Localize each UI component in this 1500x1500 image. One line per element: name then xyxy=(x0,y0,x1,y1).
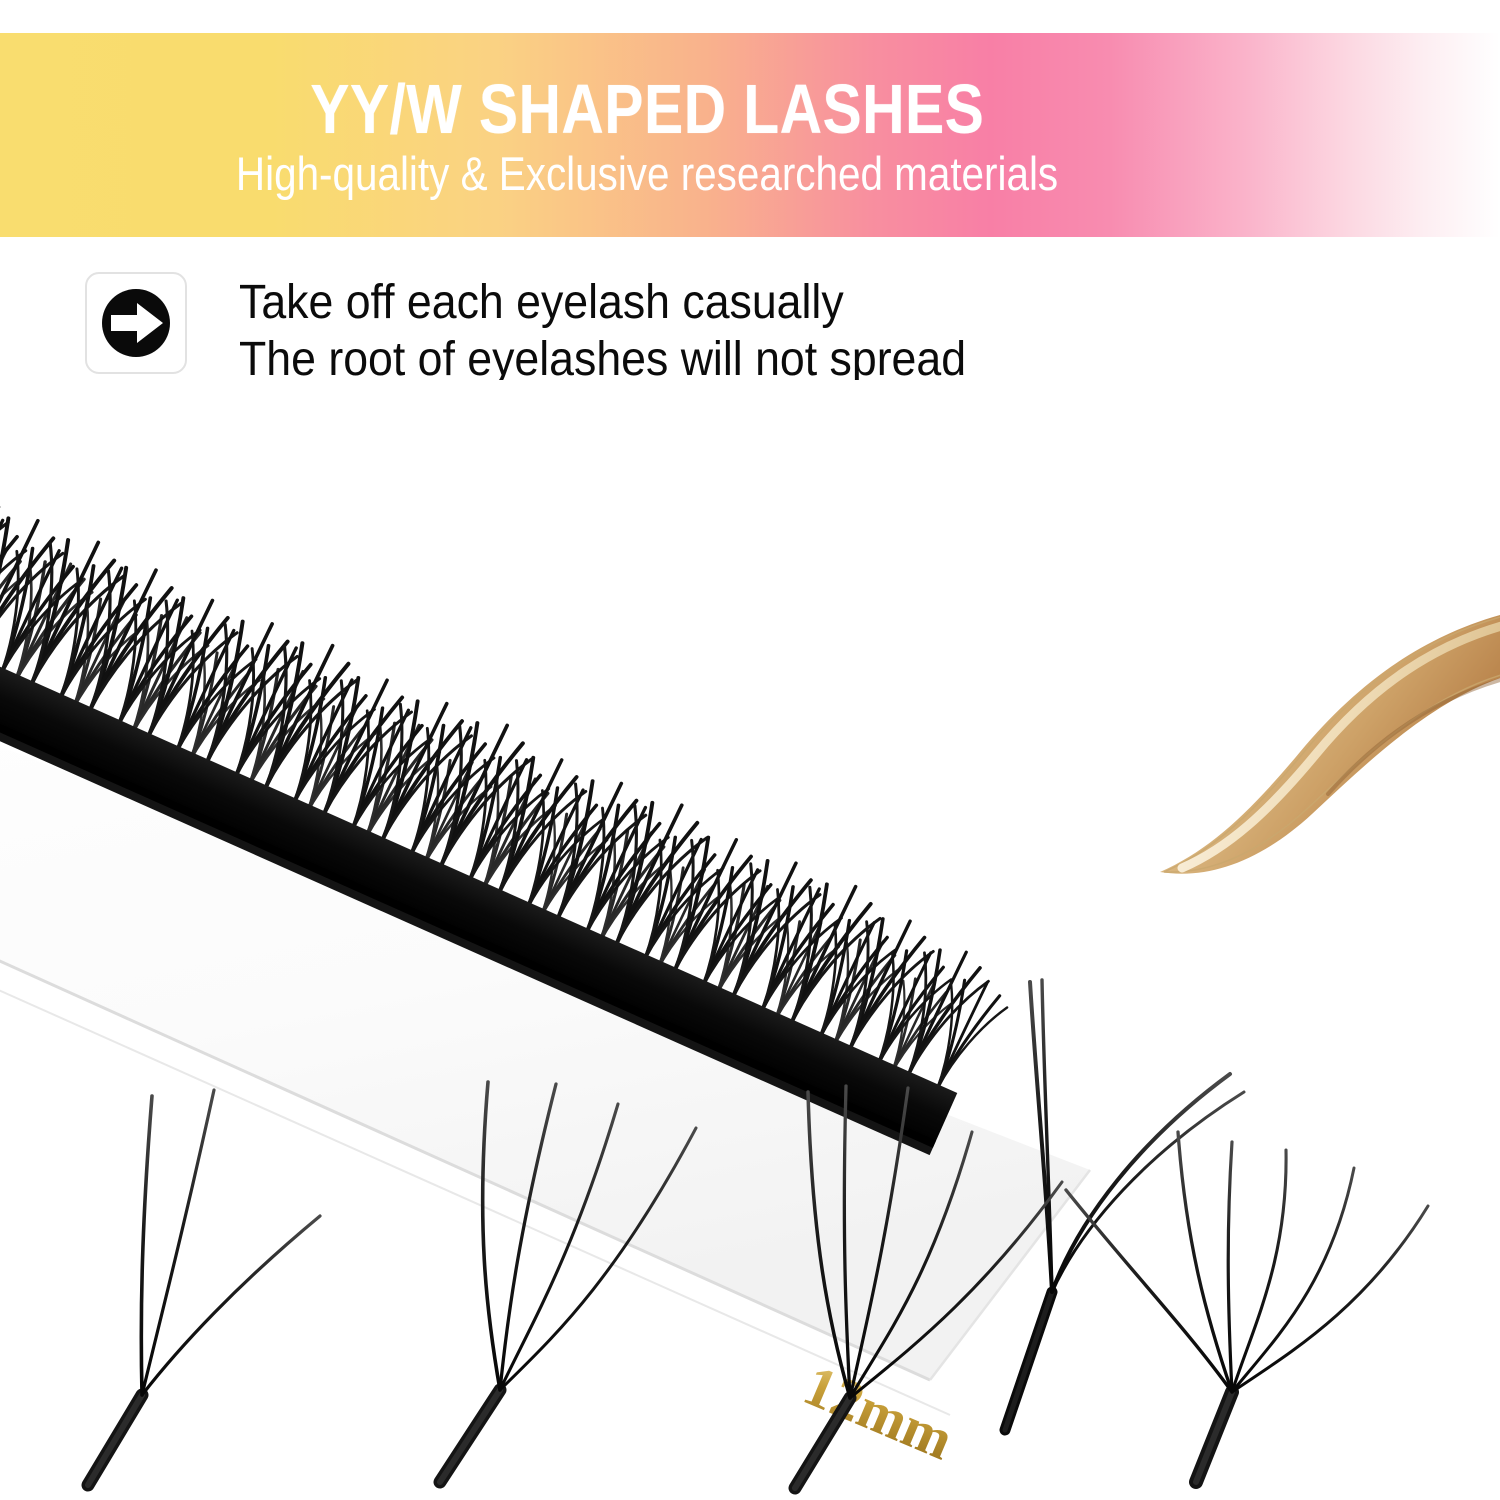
feature-note: Take off each eyelash casually The root … xyxy=(85,272,1021,388)
header-banner-content: YY/W SHAPED LASHES High-quality & Exclus… xyxy=(0,33,1295,237)
page-title: YY/W SHAPED LASHES xyxy=(310,74,984,144)
product-photo: 12mm xyxy=(0,380,1500,1500)
arrow-right-circle-icon xyxy=(99,286,173,360)
note-line-1: Take off each eyelash casually xyxy=(239,274,966,331)
note-icon-badge xyxy=(85,272,187,374)
note-text-block: Take off each eyelash casually The root … xyxy=(239,272,1021,388)
page-subtitle: High-quality & Exclusive researched mate… xyxy=(236,150,1058,197)
product-photo-svg: 12mm xyxy=(0,380,1500,1500)
header-banner: YY/W SHAPED LASHES High-quality & Exclus… xyxy=(0,33,1500,237)
product-infographic: YY/W SHAPED LASHES High-quality & Exclus… xyxy=(0,0,1500,1500)
